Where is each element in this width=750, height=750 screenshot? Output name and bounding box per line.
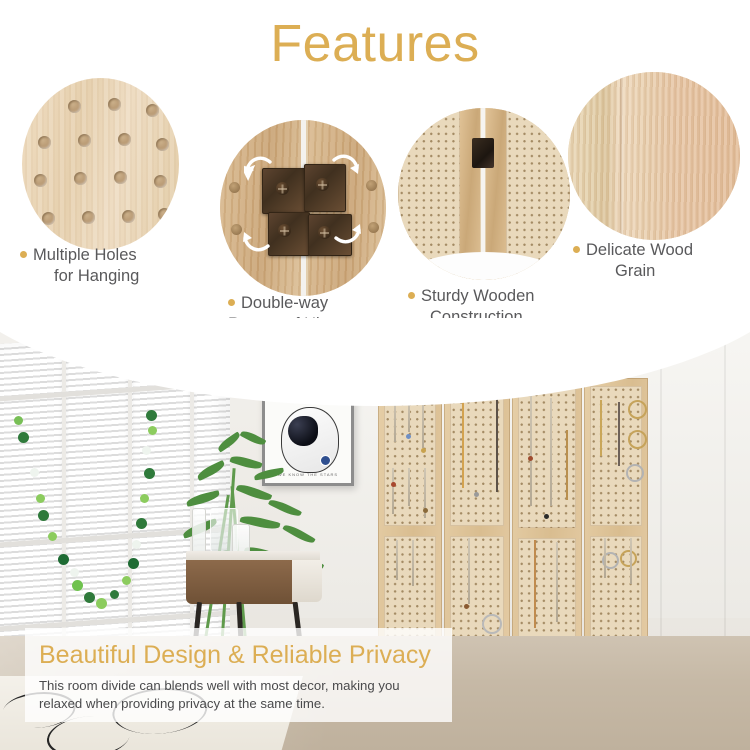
grain-seam xyxy=(620,72,623,240)
bottom-banner: Beautiful Design & Reliable Privacy This… xyxy=(25,628,452,722)
banner-headline: Beautiful Design & Reliable Privacy xyxy=(25,628,452,670)
screw-icon xyxy=(276,182,289,195)
hanging-necklace xyxy=(618,402,620,466)
hinge-photo xyxy=(220,120,386,296)
garland-pompom xyxy=(18,432,29,443)
garland-pompom xyxy=(142,446,151,455)
hoop-earring xyxy=(628,430,647,449)
panel-hinge-icon xyxy=(472,138,494,168)
feature-label-line2: for Hanging xyxy=(20,266,139,287)
garland-pompom xyxy=(110,590,119,599)
garland-pompom xyxy=(48,532,57,541)
garland-pompom xyxy=(72,580,83,591)
garland-pompom xyxy=(38,510,49,521)
feature-label-line1: Sturdy Wooden xyxy=(421,287,534,305)
garland-pompom xyxy=(132,540,141,549)
feature-label-line2: Grain xyxy=(573,261,693,282)
shutter-post xyxy=(62,336,66,666)
garland-pompom xyxy=(58,554,69,565)
wall-seam xyxy=(660,338,662,638)
feature-image-wood-grain xyxy=(568,72,740,240)
rotation-arrow-icon xyxy=(330,154,360,180)
pendant xyxy=(423,508,428,513)
garland-pompom xyxy=(36,494,45,503)
hanging-necklace xyxy=(392,468,394,514)
pendant xyxy=(528,456,533,461)
feature-label-line1: Delicate Wood xyxy=(586,241,693,259)
feature-label-wood-grain: Delicate Wood Grain xyxy=(573,240,693,282)
garland-pompom xyxy=(146,410,157,421)
garland-pompom xyxy=(136,518,147,529)
pegboard-holes xyxy=(22,78,179,250)
helmet-visor xyxy=(288,416,318,446)
hanging-necklace xyxy=(604,538,606,578)
hoop-earring xyxy=(628,400,647,419)
rotation-arrow-icon xyxy=(244,156,274,182)
rotation-arrow-icon xyxy=(242,228,272,254)
hanging-necklace xyxy=(530,396,532,506)
feature-image-multiple-holes xyxy=(22,78,179,250)
hanging-necklace xyxy=(630,538,632,584)
pendant xyxy=(406,434,411,439)
hanging-necklace xyxy=(534,540,536,628)
product-feature-page: Features Multiple Holes for Hanging xyxy=(0,0,750,750)
bullet-dot-icon xyxy=(228,299,235,306)
astronaut-helmet-icon xyxy=(281,407,339,473)
pegboard-panels-photo xyxy=(398,108,570,280)
pendant xyxy=(464,604,469,609)
pendant xyxy=(474,492,479,497)
rotation-arrow-icon xyxy=(332,220,362,246)
hoop-earring xyxy=(620,550,637,567)
hanging-necklace xyxy=(468,538,470,604)
garland-pompom xyxy=(14,416,23,425)
screw-icon xyxy=(316,178,329,191)
bullet-dot-icon xyxy=(573,246,580,253)
pendant xyxy=(421,448,426,453)
hanging-necklace xyxy=(408,468,410,506)
feature-image-double-way-hinge xyxy=(220,120,386,296)
pegboard-room-divider xyxy=(378,378,648,660)
side-table-drawer[interactable] xyxy=(292,560,322,602)
hanging-necklace xyxy=(412,540,414,586)
garland-pompom xyxy=(148,426,157,435)
garland-pompom xyxy=(84,592,95,603)
side-table-body xyxy=(186,560,298,604)
feature-image-sturdy-construction xyxy=(398,108,570,280)
feature-label-line1: Double-way xyxy=(241,294,328,312)
page-title: Features xyxy=(0,18,750,70)
garland-pompom xyxy=(70,568,79,577)
pendant xyxy=(544,514,549,519)
bullet-dot-icon xyxy=(408,292,415,299)
hanging-necklace xyxy=(566,430,568,500)
hanging-necklace xyxy=(550,398,552,506)
screw-icon xyxy=(278,224,291,237)
pendant xyxy=(391,482,396,487)
garland-pompom xyxy=(128,558,139,569)
screw-icon xyxy=(318,226,331,239)
bullet-dot-icon xyxy=(20,251,27,258)
hanging-necklace xyxy=(556,542,558,622)
toiletry-bottle xyxy=(192,508,206,556)
hanging-necklace xyxy=(496,398,498,492)
hoop-earring xyxy=(482,614,502,634)
garland-pompom xyxy=(122,576,131,585)
garland-pompom xyxy=(140,494,149,503)
hanging-necklace xyxy=(462,402,464,488)
banner-body: This room divide can blends well with mo… xyxy=(25,670,452,714)
hanging-necklace xyxy=(600,400,602,456)
garland-pompom xyxy=(144,468,155,479)
garland-pompom xyxy=(96,598,107,609)
hoop-earring xyxy=(626,464,644,482)
garland-pompom xyxy=(30,468,39,477)
hanging-necklace xyxy=(396,540,398,580)
hanging-necklace xyxy=(422,398,424,448)
feature-label-line1: Multiple Holes xyxy=(33,246,137,264)
feature-label-multiple-holes: Multiple Holes for Hanging xyxy=(20,245,139,287)
wall-seam xyxy=(724,338,726,638)
helmet-badge xyxy=(320,455,331,466)
wood-grain-photo xyxy=(568,72,740,240)
